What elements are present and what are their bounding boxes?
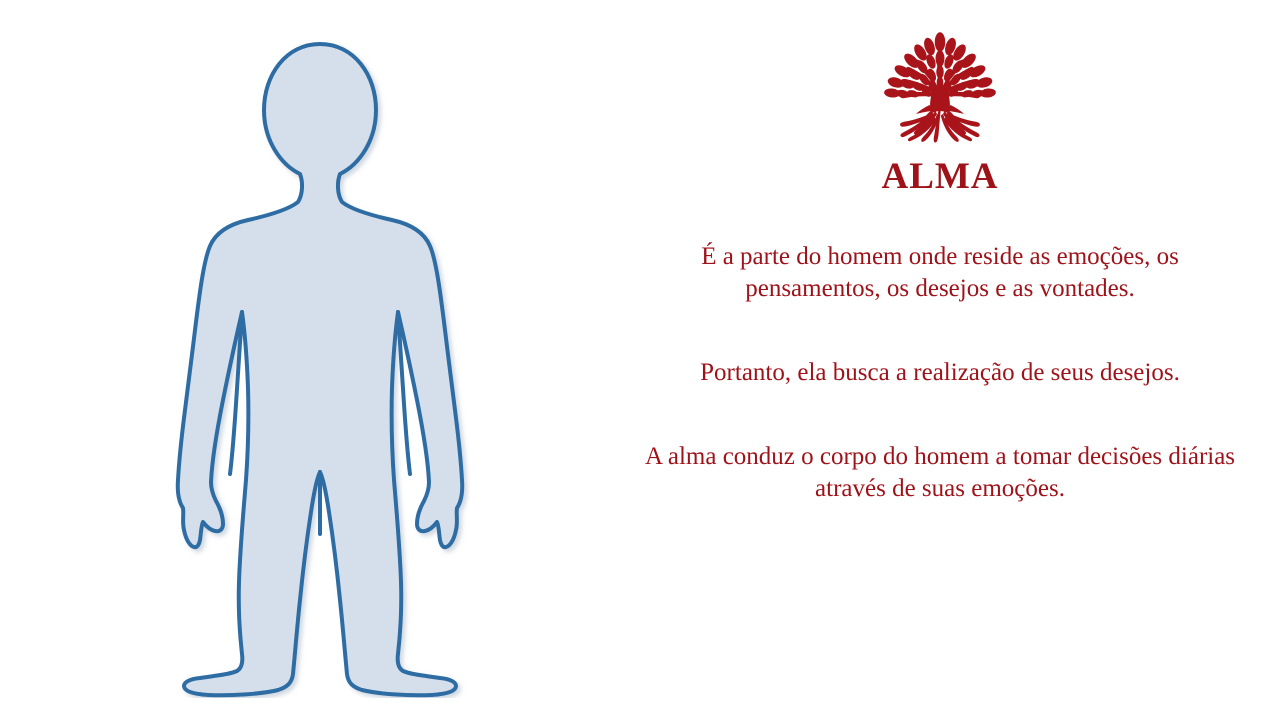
slide-canvas: ALMA É a parte do homem onde reside as e… [0, 0, 1280, 720]
content-panel: ALMA É a parte do homem onde reside as e… [600, 0, 1280, 720]
paragraph-list: É a parte do homem onde reside as emoçõe… [630, 241, 1250, 505]
brand-logo [860, 30, 1020, 150]
brand-title: ALMA [881, 158, 998, 195]
paragraph-purpose: Portanto, ela busca a realização de seus… [660, 357, 1220, 389]
human-body-svg [170, 22, 470, 698]
body-illustration-panel [0, 0, 600, 720]
tree-of-life-icon [865, 30, 1015, 150]
human-body-silhouette [170, 22, 470, 698]
paragraph-influence: A alma conduz o corpo do homem a tomar d… [640, 441, 1240, 505]
paragraph-definition: É a parte do homem onde reside as emoçõe… [640, 241, 1240, 305]
body-outline-path [178, 44, 463, 695]
